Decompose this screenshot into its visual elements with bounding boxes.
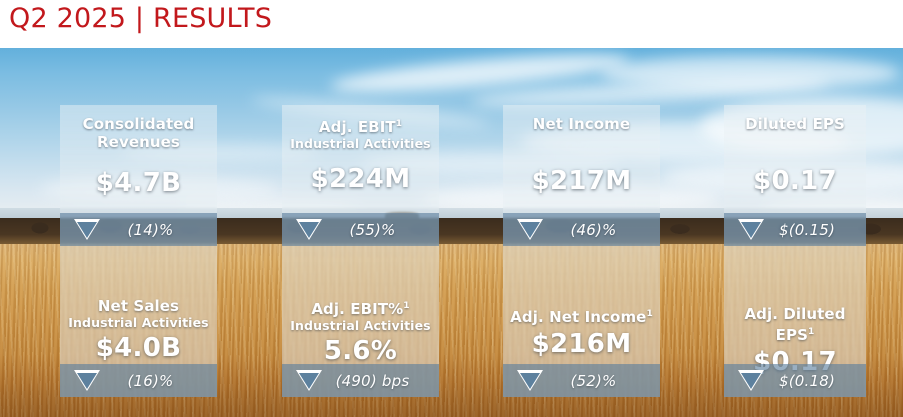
metric-label: Adj. EBIT1 <box>282 115 439 136</box>
delta-strip-top: (55)% <box>282 213 439 246</box>
metric-value: $217M <box>503 165 660 197</box>
metric-label: Net Sales <box>60 297 217 315</box>
footnote-marker: 1 <box>808 327 814 337</box>
title-bar: Q2 2025 | RESULTS <box>0 0 903 48</box>
triangle-down-icon <box>296 370 322 391</box>
delta-value: $(0.18) <box>764 372 866 390</box>
metric-label: Net Income <box>503 115 660 133</box>
cloud-icon <box>600 56 900 90</box>
metric-label: Diluted EPS <box>724 115 866 133</box>
hero-background: Consolidated Revenues $4.7B (14)% Net Sa… <box>0 48 903 417</box>
metric-card-net-income[interactable]: Net Income $217M (46)% Adj. Net Income1 … <box>503 105 660 397</box>
metric-card-diluted-eps[interactable]: Diluted EPS $0.17 $(0.15) Adj. Diluted E… <box>724 105 866 397</box>
footnote-marker: 1 <box>646 309 652 319</box>
card-bottom-section: Adj. Net Income1 $216M <box>503 305 660 360</box>
delta-strip-bottom: $(0.18) <box>724 364 866 397</box>
triangle-down-icon <box>517 370 543 391</box>
footnote-marker: 1 <box>396 119 402 129</box>
delta-strip-top: (14)% <box>60 213 217 246</box>
triangle-down-icon <box>74 370 100 391</box>
delta-strip-top: (46)% <box>503 213 660 246</box>
metric-label-text: Adj. EBIT <box>319 118 396 136</box>
delta-strip-bottom: (16)% <box>60 364 217 397</box>
page-title: Q2 2025 | RESULTS <box>9 3 272 34</box>
metric-label-text: Adj. Net Income <box>510 308 646 326</box>
metric-label: Adj. Net Income1 <box>503 305 660 326</box>
metric-label: Consolidated <box>60 115 217 133</box>
triangle-down-icon <box>517 219 543 240</box>
card-bottom-section: Net Sales Industrial Activities $4.0B <box>60 297 217 364</box>
delta-value: (52)% <box>543 372 660 390</box>
card-top-section: Adj. EBIT1 Industrial Activities $224M <box>282 115 439 195</box>
metric-card-consolidated-revenues[interactable]: Consolidated Revenues $4.7B (14)% Net Sa… <box>60 105 217 397</box>
triangle-down-icon <box>296 219 322 240</box>
card-top-section: Consolidated Revenues $4.7B <box>60 115 217 199</box>
metric-sublabel: Industrial Activities <box>282 318 439 333</box>
delta-value: (14)% <box>100 221 217 239</box>
card-bottom-section: Adj. EBIT%1 Industrial Activities 5.6% <box>282 297 439 367</box>
delta-value: (16)% <box>100 372 217 390</box>
delta-value: $(0.15) <box>764 221 866 239</box>
metric-value: $224M <box>282 163 439 195</box>
delta-value: (46)% <box>543 221 660 239</box>
card-top-section: Diluted EPS $0.17 <box>724 115 866 197</box>
delta-strip-bottom: (490) bps <box>282 364 439 397</box>
metric-card-adj-ebit[interactable]: Adj. EBIT1 Industrial Activities $224M (… <box>282 105 439 397</box>
delta-strip-top: $(0.15) <box>724 213 866 246</box>
metric-label-text: Adj. Diluted EPS <box>744 305 845 344</box>
delta-strip-bottom: (52)% <box>503 364 660 397</box>
metric-label-text: Adj. EBIT% <box>311 300 403 318</box>
metric-value: $0.17 <box>724 165 866 197</box>
metric-value: 5.6% <box>282 335 439 367</box>
metric-label: Adj. Diluted EPS1 <box>724 305 866 344</box>
metric-sublabel: Industrial Activities <box>282 136 439 151</box>
metric-value: $4.7B <box>60 167 217 199</box>
delta-value: (490) bps <box>322 372 439 390</box>
card-top-section: Net Income $217M <box>503 115 660 197</box>
slide-root: Q2 2025 | RESULTS <box>0 0 903 417</box>
delta-value: (55)% <box>322 221 439 239</box>
triangle-down-icon <box>738 219 764 240</box>
triangle-down-icon <box>738 370 764 391</box>
metric-sublabel: Industrial Activities <box>60 315 217 330</box>
metric-value: $4.0B <box>60 332 217 364</box>
footnote-marker: 1 <box>403 301 409 311</box>
triangle-down-icon <box>74 219 100 240</box>
metric-value: $216M <box>503 328 660 360</box>
metric-label: Adj. EBIT%1 <box>282 297 439 318</box>
metric-label-line2: Revenues <box>60 133 217 151</box>
